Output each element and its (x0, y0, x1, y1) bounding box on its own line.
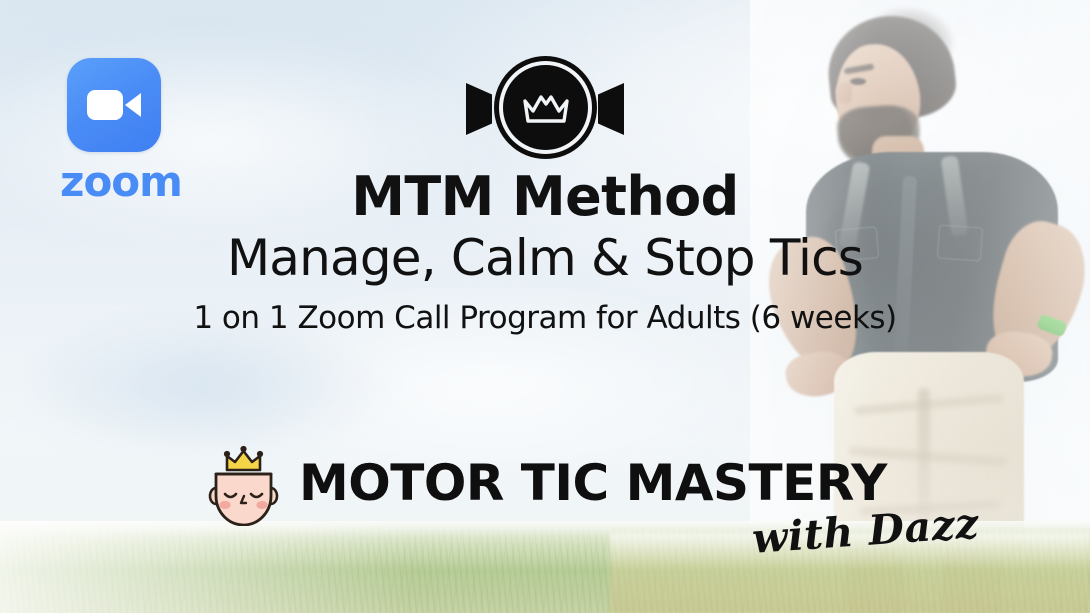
video-camera-icon (87, 90, 141, 120)
brand-name: MOTOR TIC MASTERY (299, 458, 887, 508)
cloud-layer-lower-left (22, 319, 393, 454)
camera-body-shape (87, 90, 123, 120)
zoom-app-icon (67, 58, 161, 152)
badge-ribbon-right (598, 83, 624, 135)
page-subtitle: Manage, Calm & Stop Tics (0, 229, 1090, 288)
page-title: MTM Method (0, 168, 1090, 225)
crowned-head-icon (205, 440, 285, 526)
camera-lens-shape (125, 93, 141, 117)
person-nose (836, 82, 852, 104)
badge-inner-ring (499, 61, 592, 154)
crown-glyph-icon (521, 90, 571, 126)
headline-block: MTM Method Manage, Calm & Stop Tics 1 on… (0, 168, 1090, 339)
program-detail: 1 on 1 Zoom Call Program for Adults (6 w… (0, 298, 1090, 338)
person-eye (850, 78, 866, 85)
badge-circle (494, 56, 597, 159)
badge-ribbon-left (466, 83, 492, 135)
grass-fade-left (0, 521, 414, 613)
crown-badge-icon (466, 56, 624, 160)
promo-poster: zoom MTM Method Manage, Calm & Stop Tics… (0, 0, 1090, 613)
